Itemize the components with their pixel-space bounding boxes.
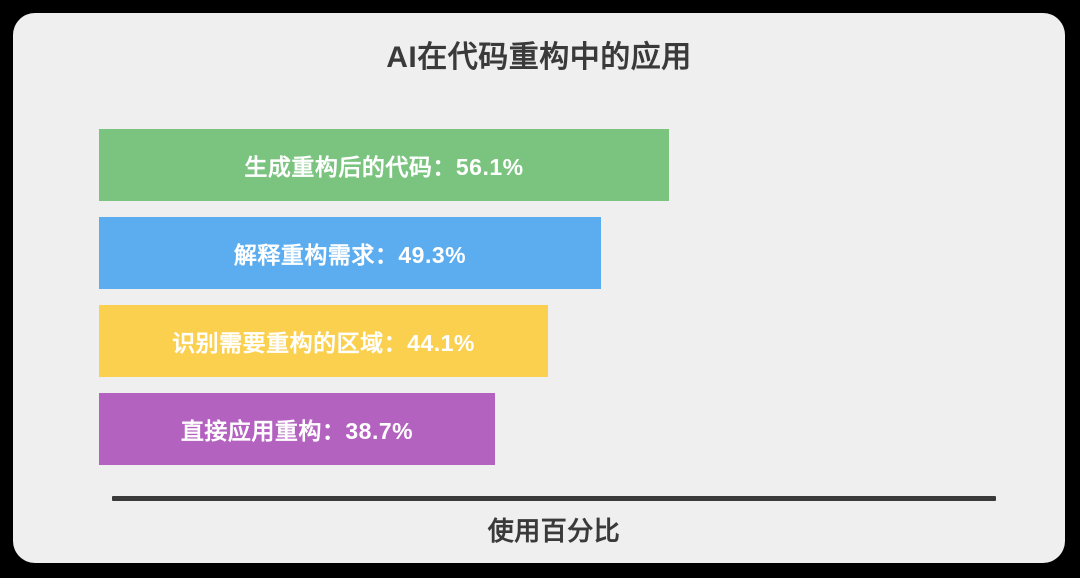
bar-chart-plot-area: 生成重构后的代码：56.1% 解释重构需求：49.3% 识别需要重构的区域：44… (99, 103, 999, 488)
bar-row: 直接应用重构：38.7% (99, 393, 495, 465)
bar-row: 解释重构需求：49.3% (99, 217, 601, 289)
bar-label: 识别需要重构的区域：44.1% (172, 324, 475, 358)
bar-generate-refactored-code[interactable]: 生成重构后的代码：56.1% (99, 129, 669, 201)
bar-label: 解释重构需求：49.3% (234, 236, 466, 270)
bar-label: 直接应用重构：38.7% (181, 412, 413, 446)
x-axis-label: 使用百分比 (112, 511, 996, 548)
bar-label: 生成重构后的代码：56.1% (244, 148, 523, 182)
x-axis-line (112, 496, 996, 501)
bar-apply-refactor-directly[interactable]: 直接应用重构：38.7% (99, 393, 495, 465)
page-title: AI在代码重构中的应用 (13, 40, 1065, 76)
screenshot-canvas: AI在代码重构中的应用 生成重构后的代码：56.1% 解释重构需求：49.3% … (0, 0, 1080, 578)
bar-row: 识别需要重构的区域：44.1% (99, 305, 548, 377)
bar-row: 生成重构后的代码：56.1% (99, 129, 669, 201)
bar-identify-refactor-areas[interactable]: 识别需要重构的区域：44.1% (99, 305, 548, 377)
chart-card: AI在代码重构中的应用 生成重构后的代码：56.1% 解释重构需求：49.3% … (13, 13, 1065, 563)
bar-explain-refactor-needs[interactable]: 解释重构需求：49.3% (99, 217, 601, 289)
